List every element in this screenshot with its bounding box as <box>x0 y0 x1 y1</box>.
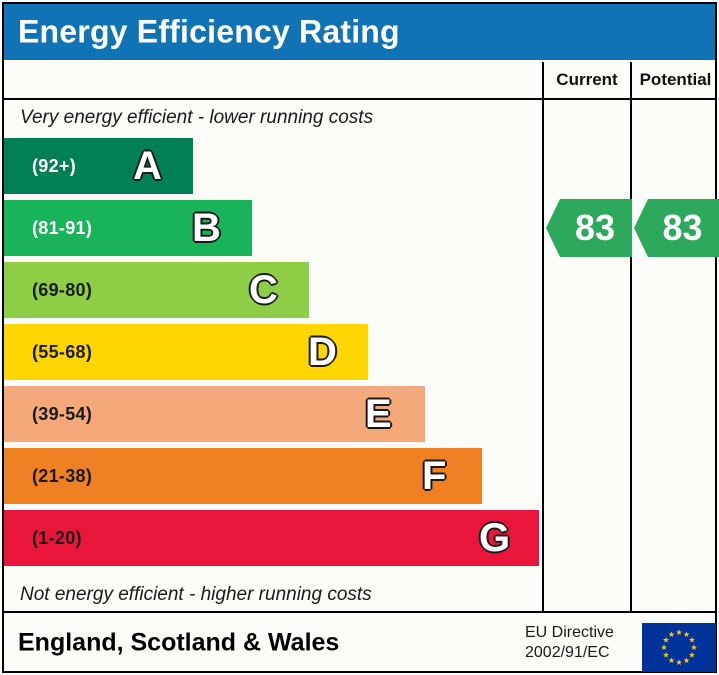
caption-top: Very energy efficient - lower running co… <box>4 100 542 136</box>
band-range-a: (92+) <box>32 156 76 177</box>
band-letter-a: A <box>133 146 162 186</box>
current-rating-value: 83 <box>563 210 615 246</box>
band-range-g: (1-20) <box>32 528 82 549</box>
band-row-d: (55-68)D <box>4 324 368 380</box>
band-row-c: (69-80)C <box>4 262 309 318</box>
footer-directive: EU Directive 2002/91/EC <box>525 623 614 663</box>
body-bottom-border <box>4 611 715 613</box>
potential-rating-arrow: 83 <box>634 199 719 257</box>
potential-rating-value: 83 <box>650 210 702 246</box>
band-range-c: (69-80) <box>32 280 92 301</box>
eu-flag-stars-icon <box>642 623 716 672</box>
eu-flag-icon <box>642 623 716 672</box>
band-range-d: (55-68) <box>32 342 92 363</box>
page-title: Energy Efficiency Rating <box>18 14 400 51</box>
footer-bar: England, Scotland & Wales EU Directive 2… <box>4 615 715 671</box>
energy-efficiency-certificate: Energy Efficiency Rating Current Potenti… <box>0 0 719 675</box>
current-rating-arrow: 83 <box>546 199 632 257</box>
band-row-a: (92+)A <box>4 138 193 194</box>
column-header-potential: Potential <box>630 62 719 98</box>
column-divider-potential <box>630 100 632 613</box>
column-header-row: Current Potential <box>4 62 715 100</box>
band-letter-b: B <box>192 208 221 248</box>
band-range-b: (81-91) <box>32 218 92 239</box>
band-range-e: (39-54) <box>32 404 92 425</box>
band-letter-c: C <box>249 270 278 310</box>
column-header-current: Current <box>542 62 630 98</box>
band-letter-f: F <box>422 456 446 496</box>
band-row-b: (81-91)B <box>4 200 252 256</box>
band-range-f: (21-38) <box>32 466 92 487</box>
band-letter-e: E <box>365 394 392 434</box>
band-row-g: (1-20)G <box>4 510 539 566</box>
band-letter-g: G <box>479 518 510 558</box>
band-letter-d: D <box>308 332 337 372</box>
footer-directive-line2: 2002/91/EC <box>525 643 614 663</box>
column-divider-current <box>542 100 544 613</box>
band-row-f: (21-38)F <box>4 448 482 504</box>
caption-bottom: Not energy efficient - higher running co… <box>4 577 542 613</box>
title-banner: Energy Efficiency Rating <box>4 4 715 60</box>
band-row-e: (39-54)E <box>4 386 425 442</box>
band-list: (92+)A(81-91)B(69-80)C(55-68)D(39-54)E(2… <box>4 138 542 576</box>
footer-directive-line1: EU Directive <box>525 623 614 643</box>
footer-region-label: England, Scotland & Wales <box>18 629 339 658</box>
chart-body: Very energy efficient - lower running co… <box>4 100 715 613</box>
